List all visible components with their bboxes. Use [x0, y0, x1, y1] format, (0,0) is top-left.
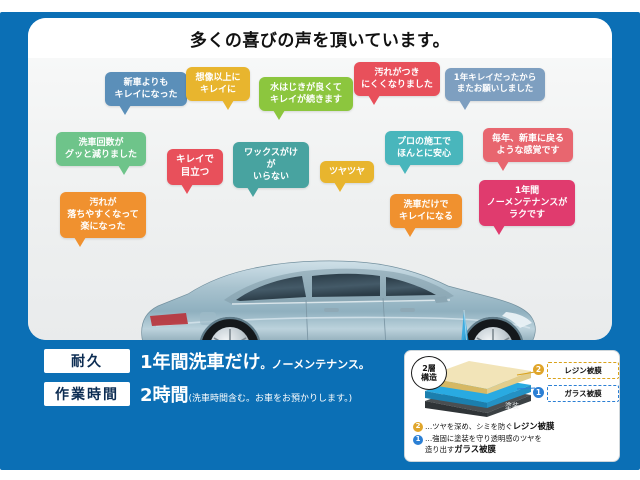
coating-layer-diagram: 2層 構造 塗装 2 1 レジン被膜 ガラス被膜: [404, 350, 620, 462]
spec-list: 耐久 1年間洗車だけ。ノーメンテナンス。 作業時間 2時間(洗車時間含む。お車を…: [44, 348, 394, 414]
legend-text-glass: …強固に塗装を守り透明感のツヤを 造り出すガラス被膜: [425, 434, 542, 456]
bubble-tail: [459, 100, 471, 110]
badge-line1: 2層: [422, 364, 436, 373]
legend-row-glass: 1 …強固に塗装を守り透明感のツヤを 造り出すガラス被膜: [413, 434, 615, 456]
layer-number-1-text: 1: [536, 388, 541, 397]
testimonial-text: プロの施工で ほんとに安心: [397, 137, 451, 159]
rear-door-window: [312, 274, 380, 297]
durability-main: 1年間洗車だけ: [140, 352, 261, 373]
bubble-tail: [493, 225, 505, 235]
testimonial-text: 1年間 ノーメンテナンスが ラクです: [487, 186, 567, 220]
worktime-main: 2時間: [140, 385, 189, 406]
legend-glass-plain2: 造り出す: [425, 445, 454, 454]
door-handle-front: [400, 308, 415, 312]
badge-line2: 構造: [421, 373, 437, 382]
spec-value-worktime: 2時間(洗車時間含む。お車をお預かりします。): [140, 381, 352, 407]
bubble-tail: [74, 237, 86, 247]
durability-main-suffix: 。: [261, 358, 272, 371]
legend-text-resin: …ツヤを深め、シミを防ぐレジン被膜: [425, 421, 554, 433]
bubble-tail: [118, 165, 130, 175]
top-white-margin: [0, 0, 640, 12]
callout-resin-film: レジン被膜: [547, 362, 619, 379]
testimonial-text: 1年キレイだったから またお願いしました: [454, 73, 536, 94]
legend-row-resin: 2 …ツヤを深め、シミを防ぐレジン被膜: [413, 421, 615, 433]
legend-dot-1-text: 1: [416, 435, 421, 445]
legend-glass-plain: …強固に塗装を守り透明感のツヤを: [425, 434, 542, 443]
testimonial-text: キレイで 目立つ: [176, 154, 214, 178]
layer-number-2-text: 2: [536, 365, 541, 374]
testimonial-bubble-1[interactable]: 新車よりも キレイになった: [105, 72, 187, 106]
testimonial-text: ワックスがけが いらない: [244, 148, 298, 182]
bubble-tail: [334, 182, 346, 192]
bubble-tail: [222, 100, 234, 110]
bubble-tail: [497, 161, 509, 171]
spec-row-worktime: 作業時間 2時間(洗車時間含む。お車をお預かりします。): [44, 381, 394, 407]
bubble-tail: [119, 105, 131, 115]
bubble-tail: [273, 110, 285, 120]
base-layer-label: 塗装: [505, 401, 519, 410]
spec-label-durability: 耐久: [44, 349, 130, 373]
legend-resin-bold: レジン被膜: [513, 421, 555, 431]
testimonial-bubble-3[interactable]: 水はじきが良くて キレイが続きます: [259, 77, 353, 111]
bubble-tail: [247, 187, 259, 197]
advertisement-canvas: 新車よりも キレイになった 想像以上に キレイに 水はじきが良くて キレイが続き…: [0, 0, 640, 480]
testimonial-text: 水はじきが良くて キレイが続きます: [270, 83, 342, 105]
testimonial-bubble-11[interactable]: 毎年、新車に戻る ような感覚です: [483, 128, 573, 162]
legend-resin-plain: …ツヤを深め、シミを防ぐ: [425, 422, 513, 431]
legend-dot-2-text: 2: [416, 422, 421, 432]
layer-number-1-icon: 1: [533, 387, 544, 398]
durability-note: ノーメンテナンス。: [272, 358, 370, 371]
testimonial-text: 洗車回数が グッと減りました: [65, 138, 137, 160]
testimonial-bubble-13[interactable]: 洗車だけで キレイになる: [390, 194, 462, 228]
photo-area: 新車よりも キレイになった 想像以上に キレイに 水はじきが良くて キレイが続き…: [28, 56, 612, 340]
bubble-tail: [181, 184, 193, 194]
testimonial-text: 新車よりも キレイになった: [114, 78, 177, 100]
testimonial-bubble-2[interactable]: 想像以上に キレイに: [186, 67, 250, 101]
layer-number-2-icon: 2: [533, 364, 544, 375]
testimonial-text: 洗車だけで キレイになる: [399, 200, 453, 222]
testimonial-bubble-9[interactable]: ツヤツヤ: [320, 161, 374, 183]
legend-dot-1-icon: 1: [413, 435, 423, 445]
testimonial-bubble-7[interactable]: キレイで 目立つ: [167, 149, 223, 185]
legend-dot-2-icon: 2: [413, 422, 423, 432]
spec-value-durability: 1年間洗車だけ。ノーメンテナンス。: [140, 348, 370, 374]
testimonial-text: 想像以上に キレイに: [195, 73, 240, 95]
bottom-white-margin: [0, 470, 640, 480]
bubble-tail: [399, 164, 411, 174]
spec-label-worktime: 作業時間: [44, 382, 130, 406]
testimonial-bubble-8[interactable]: ワックスがけが いらない: [233, 142, 309, 188]
bubble-tail: [368, 95, 380, 105]
legend-glass-bold: ガラス被膜: [454, 444, 496, 454]
diagram-legend: 2 …ツヤを深め、シミを防ぐレジン被膜 1 …強固に塗装を守り透明感のツヤを 造…: [413, 421, 615, 457]
testimonial-text: 毎年、新車に戻る ような感覚です: [492, 134, 564, 156]
testimonial-text: 汚れがつき にくくなりました: [361, 68, 433, 90]
page-title: 多くの喜びの声を頂いています。: [190, 26, 450, 51]
spec-row-durability: 耐久 1年間洗車だけ。ノーメンテナンス。: [44, 348, 394, 374]
title-band: 多くの喜びの声を頂いています。: [28, 18, 612, 58]
testimonial-bubble-12[interactable]: 汚れが 落ちやすくなって 楽になった: [60, 192, 146, 238]
bubble-tail: [404, 227, 416, 237]
testimonial-bubble-4[interactable]: 汚れがつき にくくなりました: [354, 62, 440, 96]
testimonial-bubble-14[interactable]: 1年間 ノーメンテナンスが ラクです: [479, 180, 575, 226]
door-handle-rear: [324, 308, 339, 312]
two-layer-badge: 2層 構造: [411, 356, 447, 390]
zoom-pointer-line: [426, 304, 546, 340]
callout-glass-film: ガラス被膜: [547, 385, 619, 402]
testimonial-bubble-10[interactable]: プロの施工で ほんとに安心: [385, 131, 463, 165]
testimonial-text: 汚れが 落ちやすくなって 楽になった: [67, 198, 139, 232]
testimonial-bubble-6[interactable]: 洗車回数が グッと減りました: [56, 132, 146, 166]
testimonial-bubble-5[interactable]: 1年キレイだったから またお願いしました: [445, 68, 545, 101]
worktime-note: (洗車時間含む。お車をお預かりします。): [189, 394, 353, 404]
testimonial-text: ツヤツヤ: [329, 167, 365, 177]
